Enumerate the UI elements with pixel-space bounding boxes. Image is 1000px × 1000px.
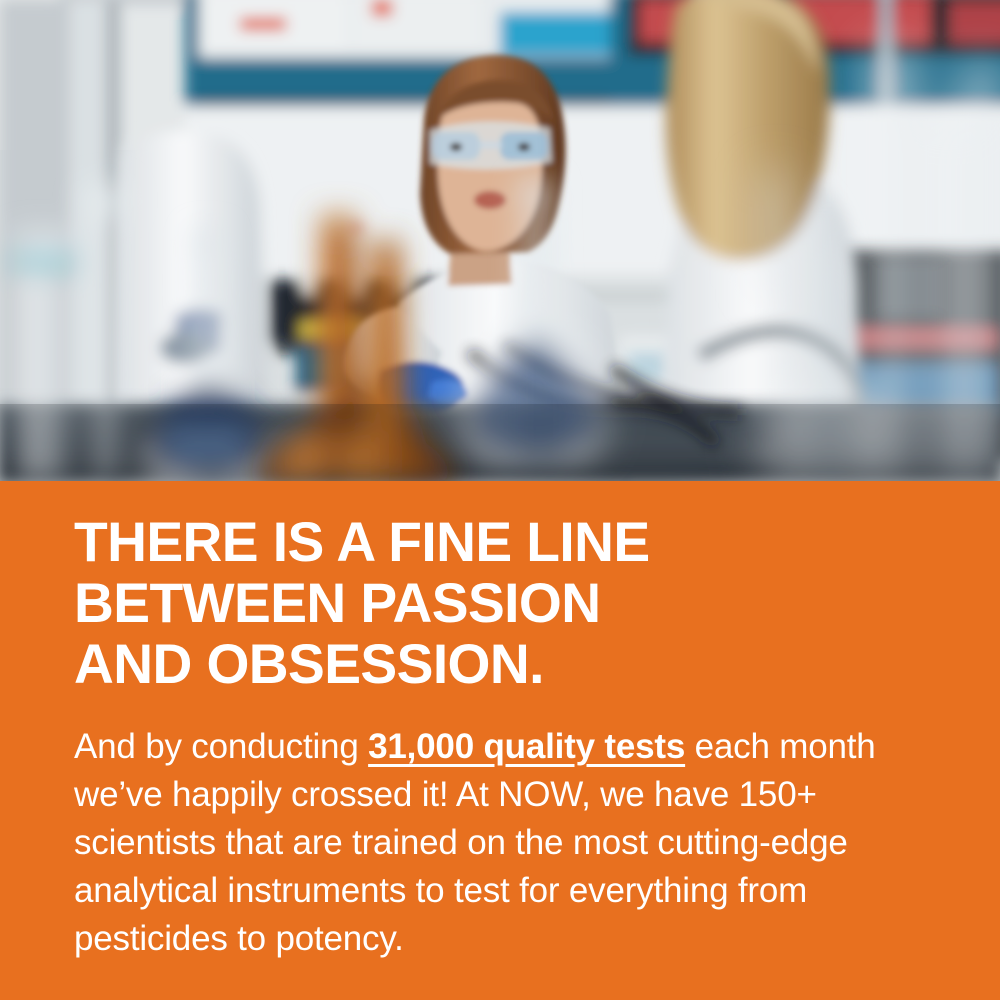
advertisement-card: 500: [0, 0, 1000, 1000]
body-text-part-1: And by conducting: [74, 727, 368, 766]
headline: THERE IS A FINE LINE BETWEEN PASSION AND…: [74, 511, 934, 694]
quality-tests-highlight: 31,000 quality tests: [368, 727, 685, 766]
lab-photo: 500: [0, 0, 1000, 481]
headline-line-1: THERE IS A FINE LINE: [74, 511, 921, 572]
headline-line-3: AND OBSESSION.: [74, 633, 921, 694]
lab-photo-illustration: 500: [0, 0, 1000, 481]
body-paragraph: And by conducting 31,000 quality tests e…: [74, 723, 954, 963]
headline-line-2: BETWEEN PASSION: [74, 572, 921, 633]
